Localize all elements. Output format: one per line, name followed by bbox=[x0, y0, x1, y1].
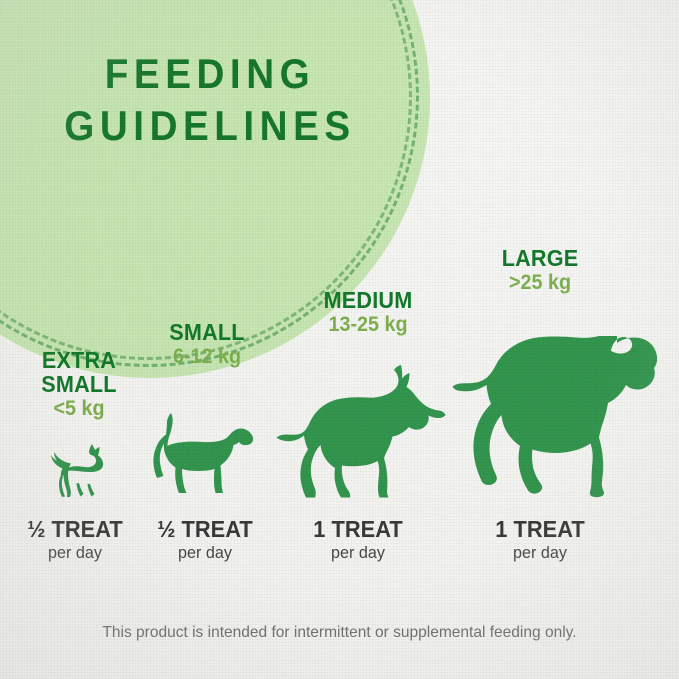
pointer-silhouette-icon bbox=[452, 336, 658, 498]
size-weight-medium: 13-25 kg bbox=[293, 314, 443, 336]
size-name-extra-small-line1: EXTRA bbox=[18, 348, 140, 372]
page-title-line-1: FEEDING bbox=[17, 48, 403, 100]
size-label-large: LARGE >25 kg bbox=[460, 246, 620, 294]
beagle-silhouette-icon bbox=[145, 413, 255, 498]
treat-label-medium: 1 TREAT per day bbox=[288, 516, 428, 564]
page-title-line-2: GUIDELINES bbox=[17, 100, 403, 152]
treat-frequency-large: per day bbox=[474, 542, 607, 564]
size-weight-small: 6-12 kg bbox=[144, 346, 270, 368]
treat-frequency-extra-small: per day bbox=[13, 542, 137, 564]
size-weight-extra-small: <5 kg bbox=[18, 398, 140, 420]
size-name-large: LARGE bbox=[465, 246, 615, 270]
treat-label-extra-small: ½ TREAT per day bbox=[10, 516, 140, 564]
footer-disclaimer: This product is intended for intermitten… bbox=[10, 624, 669, 642]
shepherd-silhouette-icon bbox=[276, 365, 446, 498]
treat-amount-large: 1 TREAT bbox=[474, 516, 607, 542]
size-name-extra-small-line2: SMALL bbox=[18, 372, 140, 396]
size-weight-large: >25 kg bbox=[465, 272, 615, 294]
treat-amount-medium: 1 TREAT bbox=[292, 516, 425, 542]
treat-label-small: ½ TREAT per day bbox=[135, 516, 275, 564]
treat-frequency-medium: per day bbox=[292, 542, 425, 564]
size-label-extra-small: EXTRA SMALL <5 kg bbox=[14, 348, 144, 420]
treat-amount-small: ½ TREAT bbox=[139, 516, 272, 542]
size-label-small: SMALL 6-12 kg bbox=[140, 320, 274, 368]
treat-label-large: 1 TREAT per day bbox=[470, 516, 610, 564]
size-label-medium: MEDIUM 13-25 kg bbox=[288, 288, 448, 336]
size-name-medium: MEDIUM bbox=[293, 288, 443, 312]
feeding-guidelines-poster: FEEDING GUIDELINES EXTRA SMALL <5 kg ½ T… bbox=[0, 0, 679, 679]
size-name-small: SMALL bbox=[144, 320, 270, 344]
chihuahua-silhouette-icon bbox=[47, 443, 109, 499]
treat-amount-extra-small: ½ TREAT bbox=[13, 516, 137, 542]
treat-frequency-small: per day bbox=[139, 542, 272, 564]
page-title: FEEDING GUIDELINES bbox=[17, 48, 403, 152]
